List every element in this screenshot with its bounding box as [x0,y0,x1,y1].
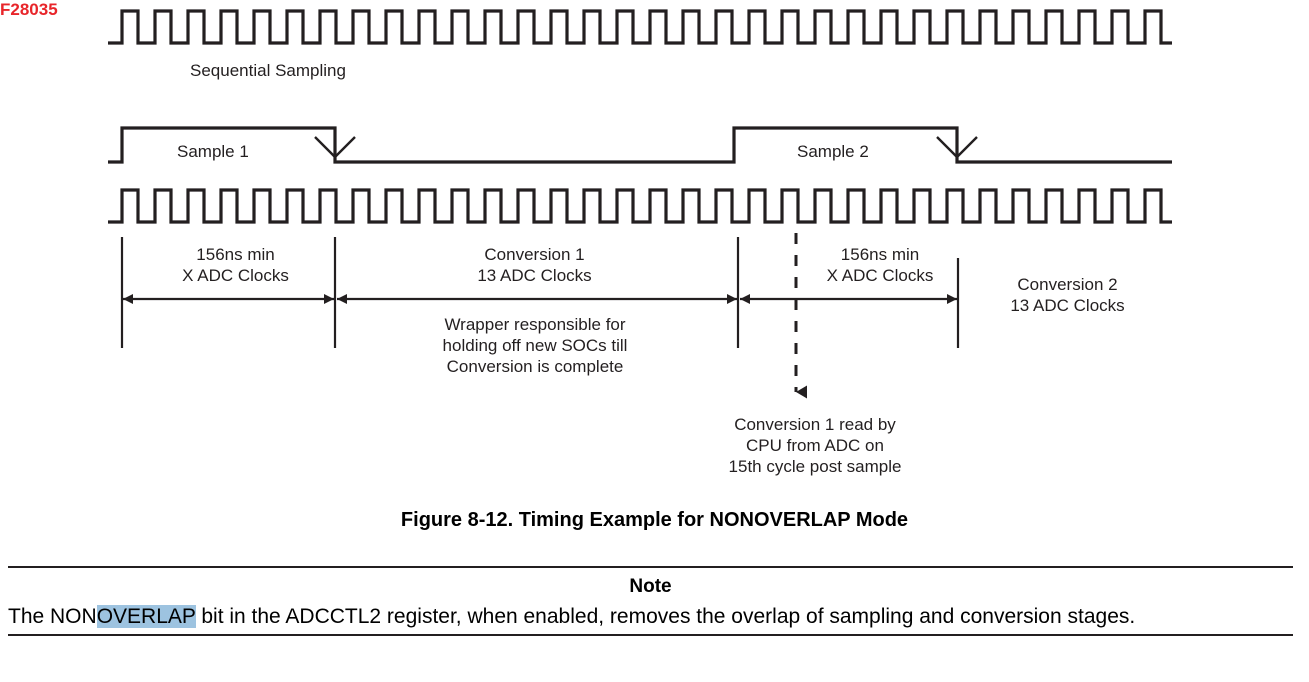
label-sample-2: Sample 2 [797,141,869,162]
figure-caption: Figure 8-12. Timing Example for NONOVERL… [0,509,1309,532]
timing-diagram-figure: Sequential Sampling Sample 1 Sample 2 15… [0,0,1309,556]
label-conversion-1: Conversion 1 13 ADC Clocks [432,244,637,286]
sample-pulse-waveform [108,128,1172,162]
note-text-before: The NON [8,605,97,628]
label-sample-1: Sample 1 [177,141,249,162]
note-title: Note [8,576,1293,598]
label-sample-window-left: 156ns min X ADC Clocks [133,244,338,286]
clock-waveform-top [108,11,1172,43]
note-text-highlighted: OVERLAP [97,605,196,628]
note-block: Note The NONOVERLAP bit in the ADCCTL2 r… [8,566,1293,636]
label-sample-window-right: 156ns min X ADC Clocks [800,244,960,286]
label-read-note: Conversion 1 read by CPU from ADC on 15t… [690,414,940,477]
clock-waveform-bottom [108,190,1172,222]
label-conversion-2: Conversion 2 13 ADC Clocks [965,274,1170,316]
note-body: The NONOVERLAP bit in the ADCCTL2 regist… [8,603,1293,630]
label-wrapper-note: Wrapper responsible for holding off new … [405,314,665,377]
note-text-after: bit in the ADCCTL2 register, when enable… [196,605,1136,628]
label-sequential-sampling: Sequential Sampling [190,60,346,81]
